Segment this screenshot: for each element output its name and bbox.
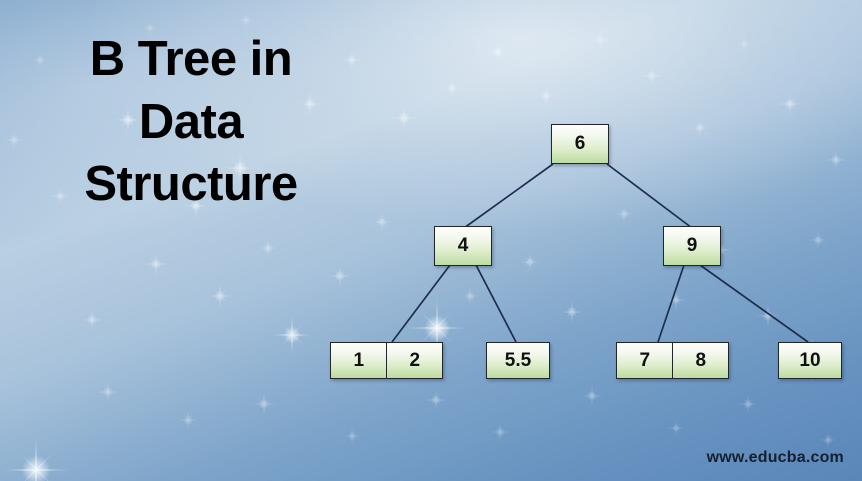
edge-root-to-4: [464, 164, 553, 228]
tree-cell-9: 9: [664, 227, 720, 265]
tree-node-leaf-1[interactable]: 1 2: [330, 342, 443, 379]
tree-cell-2: 2: [386, 343, 442, 378]
tree-node-leaf-4[interactable]: 10: [778, 342, 842, 379]
tree-node-internal-left[interactable]: 4: [434, 226, 492, 266]
tree-cell-8: 8: [672, 343, 728, 378]
watermark: www.educba.com: [707, 449, 844, 467]
tree-node-internal-right[interactable]: 9: [663, 226, 721, 266]
tree-cell-6: 6: [552, 125, 608, 163]
tree-node-root[interactable]: 6: [551, 124, 609, 164]
edge-4-to-leaf12: [392, 265, 450, 342]
edge-4-to-leaf55: [476, 265, 516, 342]
tree-node-leaf-2[interactable]: 5.5: [486, 342, 550, 379]
tree-cell-10: 10: [779, 343, 841, 378]
tree-cell-4: 4: [435, 227, 491, 265]
edge-9-to-leaf78: [658, 265, 684, 342]
tree-cell-5-5: 5.5: [487, 343, 549, 378]
edge-9-to-leaf10: [700, 265, 808, 342]
tree-cell-1: 1: [331, 343, 386, 378]
page-title: B Tree in Data Structure: [26, 28, 356, 216]
edge-root-to-9: [607, 164, 692, 228]
tree-cell-7: 7: [617, 343, 672, 378]
slide-canvas: B Tree in Data Structure 6 4 9: [0, 0, 862, 481]
tree-node-leaf-3[interactable]: 7 8: [616, 342, 729, 379]
